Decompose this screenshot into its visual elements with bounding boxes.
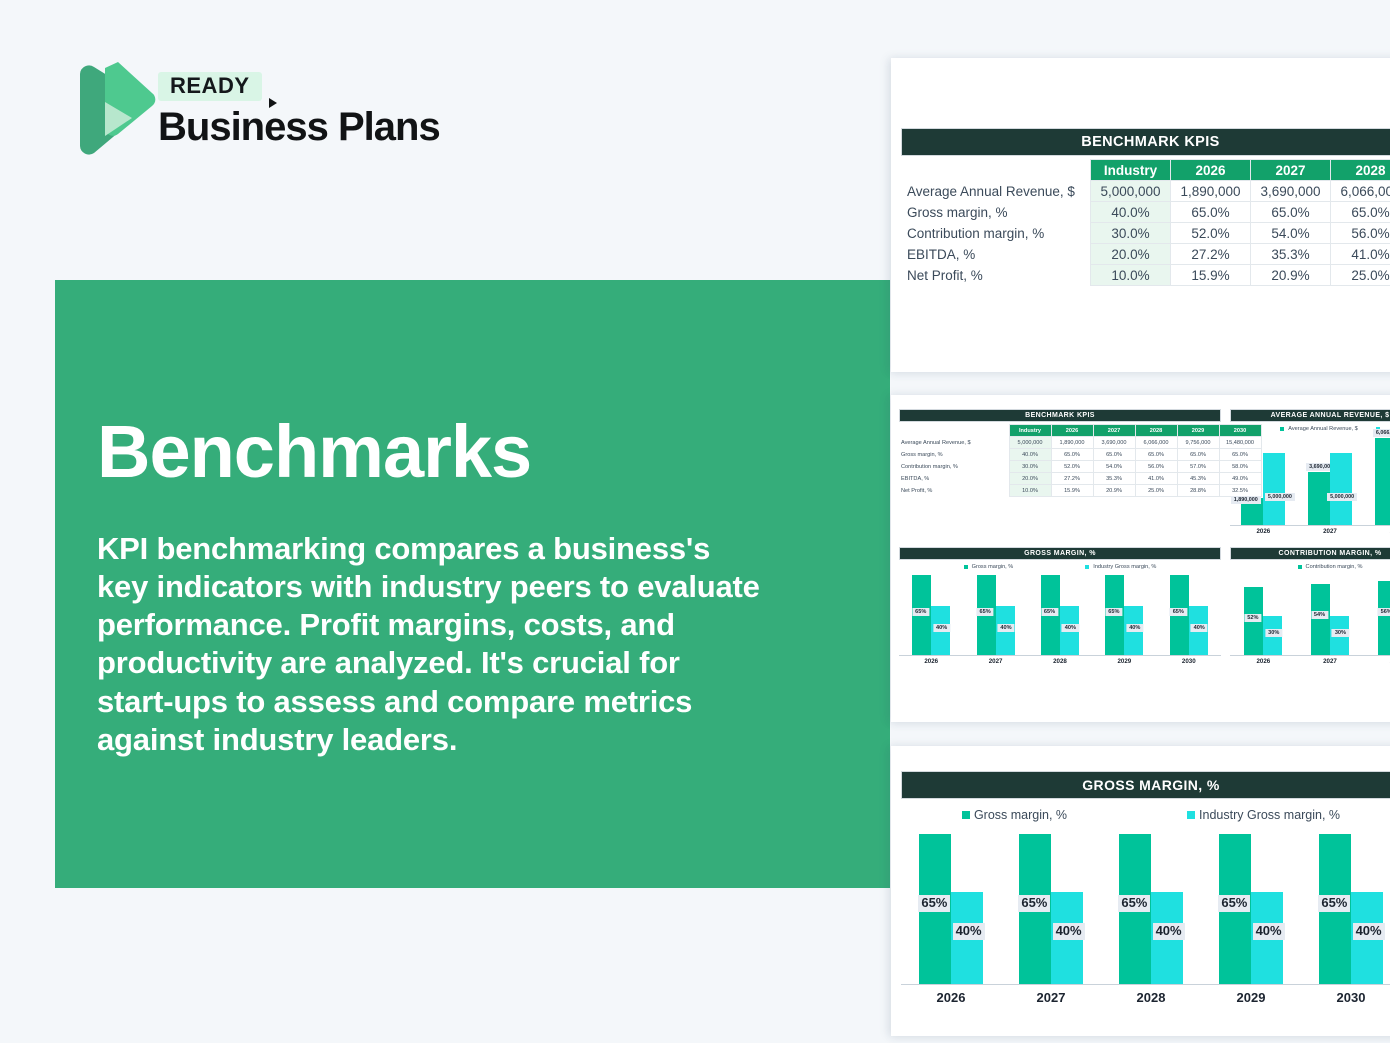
table-header-row: Industry 2026 2027 2028: [901, 160, 1390, 181]
bar-group: 1,890,000 5,000,000: [1241, 437, 1285, 525]
bar-group: 65% 40%: [977, 575, 1015, 655]
legend-label-company: Gross margin, %: [972, 564, 1014, 570]
bar-industry: 5,000,000: [1330, 453, 1352, 525]
legend-item-company: Gross margin, %: [964, 564, 1014, 570]
bar-data-label: 65%: [1218, 895, 1250, 912]
cell-2027: 54.0%: [1250, 223, 1330, 244]
bar-group: 65% 40%: [912, 575, 950, 655]
table-header-2029: 2029: [1177, 425, 1219, 437]
bar-data-label: 40%: [1191, 624, 1208, 632]
bar-data-label: 30%: [1265, 629, 1282, 637]
row-label: Gross margin, %: [901, 202, 1090, 223]
row-label: EBITDA, %: [901, 244, 1090, 265]
bar-group: 65% 40%: [1019, 834, 1083, 984]
cell-2026: 15.9%: [1051, 485, 1093, 497]
cell-2029: 45.3%: [1177, 473, 1219, 485]
chart-legend: Gross margin, % Industry Gross margin, %: [901, 808, 1390, 822]
table-row: Gross margin, % 40.0% 65.0% 65.0% 65.0% …: [899, 449, 1261, 461]
bar-industry: 40%: [1351, 892, 1383, 984]
brand-logo-block: READY Business Plans: [58, 52, 478, 162]
x-tick-2028: 2028: [1053, 658, 1067, 665]
cell-2026: 15.9%: [1170, 265, 1250, 286]
bar-data-label: 65%: [977, 608, 994, 616]
brand-wordmark: READY Business Plans: [158, 72, 440, 147]
bar-group: 65% 40%: [1170, 575, 1208, 655]
bar-data-label: 40%: [1353, 923, 1385, 940]
table-header-row: Industry 2026 2027 2028 2029 2030: [899, 425, 1261, 437]
table-row: EBITDA, % 20.0% 27.2% 35.3% 41.0% 45.3% …: [899, 473, 1261, 485]
bar-industry: 40%: [1151, 892, 1183, 984]
mini-benchmark-table-title: BENCHMARK KPIS: [899, 409, 1221, 422]
bar-industry: 40%: [1251, 892, 1283, 984]
bar-data-label: 40%: [1062, 624, 1079, 632]
legend-label-industry: Industry Gross margin, %: [1093, 564, 1156, 570]
hero-description: KPI benchmarking compares a business's k…: [97, 530, 762, 759]
cell-industry: 20.0%: [1090, 244, 1170, 265]
bar-data-label: 65%: [918, 895, 950, 912]
table-header-industry: Industry: [1009, 425, 1051, 437]
bar-data-label: 5,000,000: [1327, 493, 1357, 501]
legend-swatch-company: [1298, 565, 1302, 569]
chart-title: GROSS MARGIN, %: [899, 547, 1221, 560]
x-tick-2030: 2030: [1182, 658, 1196, 665]
bar-data-label: 65%: [1318, 895, 1350, 912]
chart-legend: Contribution margin, %: [1230, 564, 1390, 570]
cell-2026: 52.0%: [1170, 223, 1250, 244]
table-row: Net Profit, % 10.0% 15.9% 20.9% 25.0%: [901, 265, 1390, 286]
chart-gross-margin-mini: GROSS MARGIN, % Gross margin, % Industry…: [899, 547, 1221, 665]
table-header-2027: 2027: [1250, 160, 1330, 181]
chart-x-axis: 2026 2027 2028 2029 2030: [899, 655, 1221, 665]
legend-swatch-industry: [1187, 811, 1195, 819]
chart-plot-area: 65% 40% 65% 40% 65% 40%: [901, 834, 1390, 984]
bar-data-label: 65%: [1118, 895, 1150, 912]
bar-data-label: 40%: [1253, 923, 1285, 940]
bar-company: 65%: [977, 575, 996, 655]
cell-2027: 35.3%: [1250, 244, 1330, 265]
cell-2027: 65.0%: [1250, 202, 1330, 223]
row-label: Average Annual Revenue, $: [899, 437, 1009, 449]
bar-data-label: 65%: [1018, 895, 1050, 912]
bar-data-label: 54%: [1311, 611, 1328, 619]
bar-group: 56%: [1378, 575, 1390, 655]
chart-plot-area: 52% 30% 54% 30% 56%: [1230, 575, 1390, 655]
cell-2027: 54.0%: [1093, 461, 1135, 473]
bar-data-label: 40%: [1053, 923, 1085, 940]
cell-industry: 30.0%: [1009, 461, 1051, 473]
bar-group: 3,690,000 5,000,000: [1308, 437, 1352, 525]
brand-name: Business Plans: [158, 107, 440, 147]
bar-data-label: 65%: [1170, 608, 1187, 616]
bar-company: 56%: [1378, 581, 1390, 655]
cell-2026: 27.2%: [1051, 473, 1093, 485]
cell-2028: 41.0%: [1135, 473, 1177, 485]
row-label: Contribution margin, %: [899, 461, 1009, 473]
chart-average-annual-revenue-mini: AVERAGE ANNUAL REVENUE, $ Average Annual…: [1230, 409, 1390, 535]
legend-swatch-company: [964, 565, 968, 569]
bar-data-label: 52%: [1244, 614, 1261, 622]
cell-industry: 30.0%: [1090, 223, 1170, 244]
x-tick-2027: 2027: [1037, 990, 1066, 1005]
row-label: Net Profit, %: [899, 485, 1009, 497]
x-tick-2027: 2027: [1323, 658, 1337, 665]
bar-data-label: 40%: [1126, 624, 1143, 632]
table-row: Contribution margin, % 30.0% 52.0% 54.0%…: [899, 461, 1261, 473]
legend-item-industry: Industry Gross margin, %: [1187, 808, 1340, 822]
table-header-blank: [899, 425, 1009, 437]
bar-group: 65% 40%: [919, 834, 983, 984]
bar-data-label: 56%: [1378, 608, 1390, 616]
row-label: Net Profit, %: [901, 265, 1090, 286]
bar-group: 54% 30%: [1311, 575, 1349, 655]
hero-panel: Benchmarks KPI benchmarking compares a b…: [55, 280, 890, 888]
bar-company: 65%: [1019, 834, 1051, 984]
bar-data-label: 65%: [912, 608, 929, 616]
table-row: Average Annual Revenue, $ 5,000,000 1,89…: [899, 437, 1261, 449]
cell-industry: 5,000,000: [1090, 181, 1170, 202]
bar-data-label: 40%: [933, 624, 950, 632]
chart-title: GROSS MARGIN, %: [901, 771, 1390, 799]
table-row: EBITDA, % 20.0% 27.2% 35.3% 41.0%: [901, 244, 1390, 265]
page-title: Benchmarks: [97, 415, 531, 489]
legend-item-company: Gross margin, %: [962, 808, 1067, 822]
cell-2029: 65.0%: [1177, 449, 1219, 461]
bar-industry: 30%: [1330, 616, 1349, 655]
cell-2027: 65.0%: [1093, 449, 1135, 461]
play-triangle-logo-icon: [58, 54, 163, 159]
bar-company: 6,066,000: [1375, 438, 1390, 525]
cell-industry: 40.0%: [1009, 449, 1051, 461]
cell-2028: 65.0%: [1330, 202, 1390, 223]
bar-data-label: 30%: [1332, 629, 1349, 637]
bar-group: 65% 40%: [1105, 575, 1143, 655]
bar-industry: 40%: [1051, 892, 1083, 984]
chart-title: CONTRIBUTION MARGIN, %: [1230, 547, 1390, 560]
bar-company: 65%: [1041, 575, 1060, 655]
x-tick-2026: 2026: [1256, 528, 1270, 535]
bar-industry: 40%: [1124, 606, 1143, 655]
cell-2026: 27.2%: [1170, 244, 1250, 265]
bar-company: 65%: [1170, 575, 1189, 655]
screenshot-panel-benchmark-table: BENCHMARK KPIS Industry 2026 2027 2028 A…: [891, 58, 1390, 372]
cell-industry: 20.0%: [1009, 473, 1051, 485]
bar-company: 65%: [1105, 575, 1124, 655]
x-tick-2026: 2026: [1256, 658, 1270, 665]
table-header-2028: 2028: [1330, 160, 1390, 181]
x-tick-2027: 2027: [989, 658, 1003, 665]
bar-data-label: 65%: [1041, 608, 1058, 616]
x-tick-2030: 2030: [1337, 990, 1366, 1005]
chart-contribution-margin-mini: CONTRIBUTION MARGIN, % Contribution marg…: [1230, 547, 1390, 665]
cell-industry: 10.0%: [1009, 485, 1051, 497]
bar-group: 65% 40%: [1041, 575, 1079, 655]
chart-plot-area: 1,890,000 5,000,000 3,690,000 5,000,000 …: [1230, 437, 1390, 525]
bar-company: 52%: [1244, 587, 1263, 655]
cell-2028: 56.0%: [1135, 461, 1177, 473]
legend-label-company: Average Annual Revenue, $: [1288, 426, 1358, 432]
bar-industry: 30%: [1263, 616, 1282, 655]
bar-data-label: 65%: [1105, 608, 1122, 616]
screenshot-panel-dashboard: BENCHMARK KPIS Industry 2026 2027 2028 2…: [891, 395, 1390, 722]
table-header-blank: [901, 160, 1090, 181]
benchmark-table-title: BENCHMARK KPIS: [901, 128, 1390, 156]
bar-data-label: 40%: [953, 923, 985, 940]
cell-2027: 3,690,000: [1093, 437, 1135, 449]
legend-swatch-industry: [1085, 565, 1089, 569]
chart-legend: Average Annual Revenue, $: [1230, 426, 1390, 432]
chart-gross-margin-large: GROSS MARGIN, % Gross margin, % Industry…: [901, 771, 1390, 1005]
bar-company: 65%: [1119, 834, 1151, 984]
table-row: Contribution margin, % 30.0% 52.0% 54.0%…: [901, 223, 1390, 244]
bar-industry: 40%: [1060, 606, 1079, 655]
row-label: EBITDA, %: [899, 473, 1009, 485]
cell-2026: 65.0%: [1170, 202, 1250, 223]
cell-2029: 57.0%: [1177, 461, 1219, 473]
table-header-2027: 2027: [1093, 425, 1135, 437]
benchmark-table-container: BENCHMARK KPIS Industry 2026 2027 2028 A…: [901, 128, 1390, 286]
cell-2029: 9,756,000: [1177, 437, 1219, 449]
table-header-industry: Industry: [1090, 160, 1170, 181]
chart-plot-area: 65% 40% 65% 40% 65% 40%: [899, 575, 1221, 655]
row-label: Contribution margin, %: [901, 223, 1090, 244]
bar-data-label: 40%: [1153, 923, 1185, 940]
bar-group: 65% 40%: [1319, 834, 1383, 984]
x-tick-2028: 2028: [1137, 990, 1166, 1005]
bar-group: 52% 30%: [1244, 575, 1282, 655]
cell-industry: 10.0%: [1090, 265, 1170, 286]
bar-company: 65%: [1219, 834, 1251, 984]
x-tick-2026: 2026: [924, 658, 938, 665]
legend-label-company: Gross margin, %: [974, 808, 1067, 822]
bar-company: 65%: [919, 834, 951, 984]
bar-group: 6,066,000: [1375, 437, 1390, 525]
brand-name-text: Business Plans: [158, 105, 440, 149]
bar-group: 65% 40%: [1219, 834, 1283, 984]
bar-data-label: 5,000,000: [1265, 493, 1295, 501]
cell-2028: 25.0%: [1135, 485, 1177, 497]
chart-x-axis: 2026 2027 2028 2029 2030: [901, 984, 1390, 1005]
cell-2028: 41.0%: [1330, 244, 1390, 265]
screenshot-panel-gross-margin-chart: GROSS MARGIN, % Gross margin, % Industry…: [891, 746, 1390, 1036]
cell-2027: 20.9%: [1093, 485, 1135, 497]
table-header-2028: 2028: [1135, 425, 1177, 437]
mini-benchmark-table-container: BENCHMARK KPIS Industry 2026 2027 2028 2…: [899, 409, 1262, 497]
cell-2028: 65.0%: [1135, 449, 1177, 461]
cell-2026: 1,890,000: [1170, 181, 1250, 202]
cell-2027: 35.3%: [1093, 473, 1135, 485]
table-row: Net Profit, % 10.0% 15.9% 20.9% 25.0% 28…: [899, 485, 1261, 497]
x-tick-2027: 2027: [1323, 528, 1337, 535]
cell-2027: 3,690,000: [1250, 181, 1330, 202]
x-tick-2029: 2029: [1117, 658, 1131, 665]
brand-accent-triangle-icon: [269, 98, 277, 108]
row-label: Gross margin, %: [899, 449, 1009, 461]
cell-2026: 52.0%: [1051, 461, 1093, 473]
chart-x-axis: 2026 2027 2028: [1230, 655, 1390, 665]
cell-2028: 6,066,000: [1330, 181, 1390, 202]
chart-legend: Gross margin, % Industry Gross margin, %: [899, 564, 1221, 570]
x-tick-2029: 2029: [1237, 990, 1266, 1005]
table-header-2026: 2026: [1051, 425, 1093, 437]
chart-x-axis: 2026 2027 2028: [1230, 525, 1390, 535]
bar-data-label: 1,890,000: [1231, 496, 1261, 504]
table-header-2026: 2026: [1170, 160, 1250, 181]
table-row: Gross margin, % 40.0% 65.0% 65.0% 65.0%: [901, 202, 1390, 223]
cell-industry: 5,000,000: [1009, 437, 1051, 449]
mini-benchmark-kpi-table: Industry 2026 2027 2028 2029 2030 Averag…: [899, 424, 1262, 497]
row-label: Average Annual Revenue, $: [901, 181, 1090, 202]
bar-company: 54%: [1311, 584, 1330, 655]
bar-industry: 40%: [996, 606, 1015, 655]
legend-label-company: Contribution margin, %: [1306, 564, 1363, 570]
bar-industry: 40%: [1189, 606, 1208, 655]
bar-industry: 40%: [931, 606, 950, 655]
benchmark-kpi-table: Industry 2026 2027 2028 Average Annual R…: [901, 159, 1390, 286]
cell-2027: 20.9%: [1250, 265, 1330, 286]
bar-company: 1,890,000: [1241, 498, 1263, 525]
bar-industry: 5,000,000: [1263, 453, 1285, 525]
cell-2028: 6,066,000: [1135, 437, 1177, 449]
bar-data-label: 6,066,000: [1373, 429, 1390, 437]
cell-2029: 28.8%: [1177, 485, 1219, 497]
cell-2028: 56.0%: [1330, 223, 1390, 244]
cell-2026: 1,890,000: [1051, 437, 1093, 449]
legend-item-company: Contribution margin, %: [1298, 564, 1363, 570]
legend-label-industry: Industry Gross margin, %: [1199, 808, 1340, 822]
legend-item-industry: Industry Gross margin, %: [1085, 564, 1156, 570]
legend-swatch-company: [962, 811, 970, 819]
chart-title: AVERAGE ANNUAL REVENUE, $: [1230, 409, 1390, 422]
ready-badge: READY: [158, 72, 262, 101]
legend-swatch-company: [1280, 427, 1284, 431]
cell-industry: 40.0%: [1090, 202, 1170, 223]
bar-industry: 40%: [951, 892, 983, 984]
bar-data-label: 40%: [997, 624, 1014, 632]
x-tick-2026: 2026: [937, 990, 966, 1005]
table-row: Average Annual Revenue, $ 5,000,000 1,89…: [901, 181, 1390, 202]
bar-company: 65%: [1319, 834, 1351, 984]
bar-company: 65%: [912, 575, 931, 655]
legend-item-company: Average Annual Revenue, $: [1280, 426, 1358, 432]
cell-2026: 65.0%: [1051, 449, 1093, 461]
bar-group: 65% 40%: [1119, 834, 1183, 984]
cell-2028: 25.0%: [1330, 265, 1390, 286]
